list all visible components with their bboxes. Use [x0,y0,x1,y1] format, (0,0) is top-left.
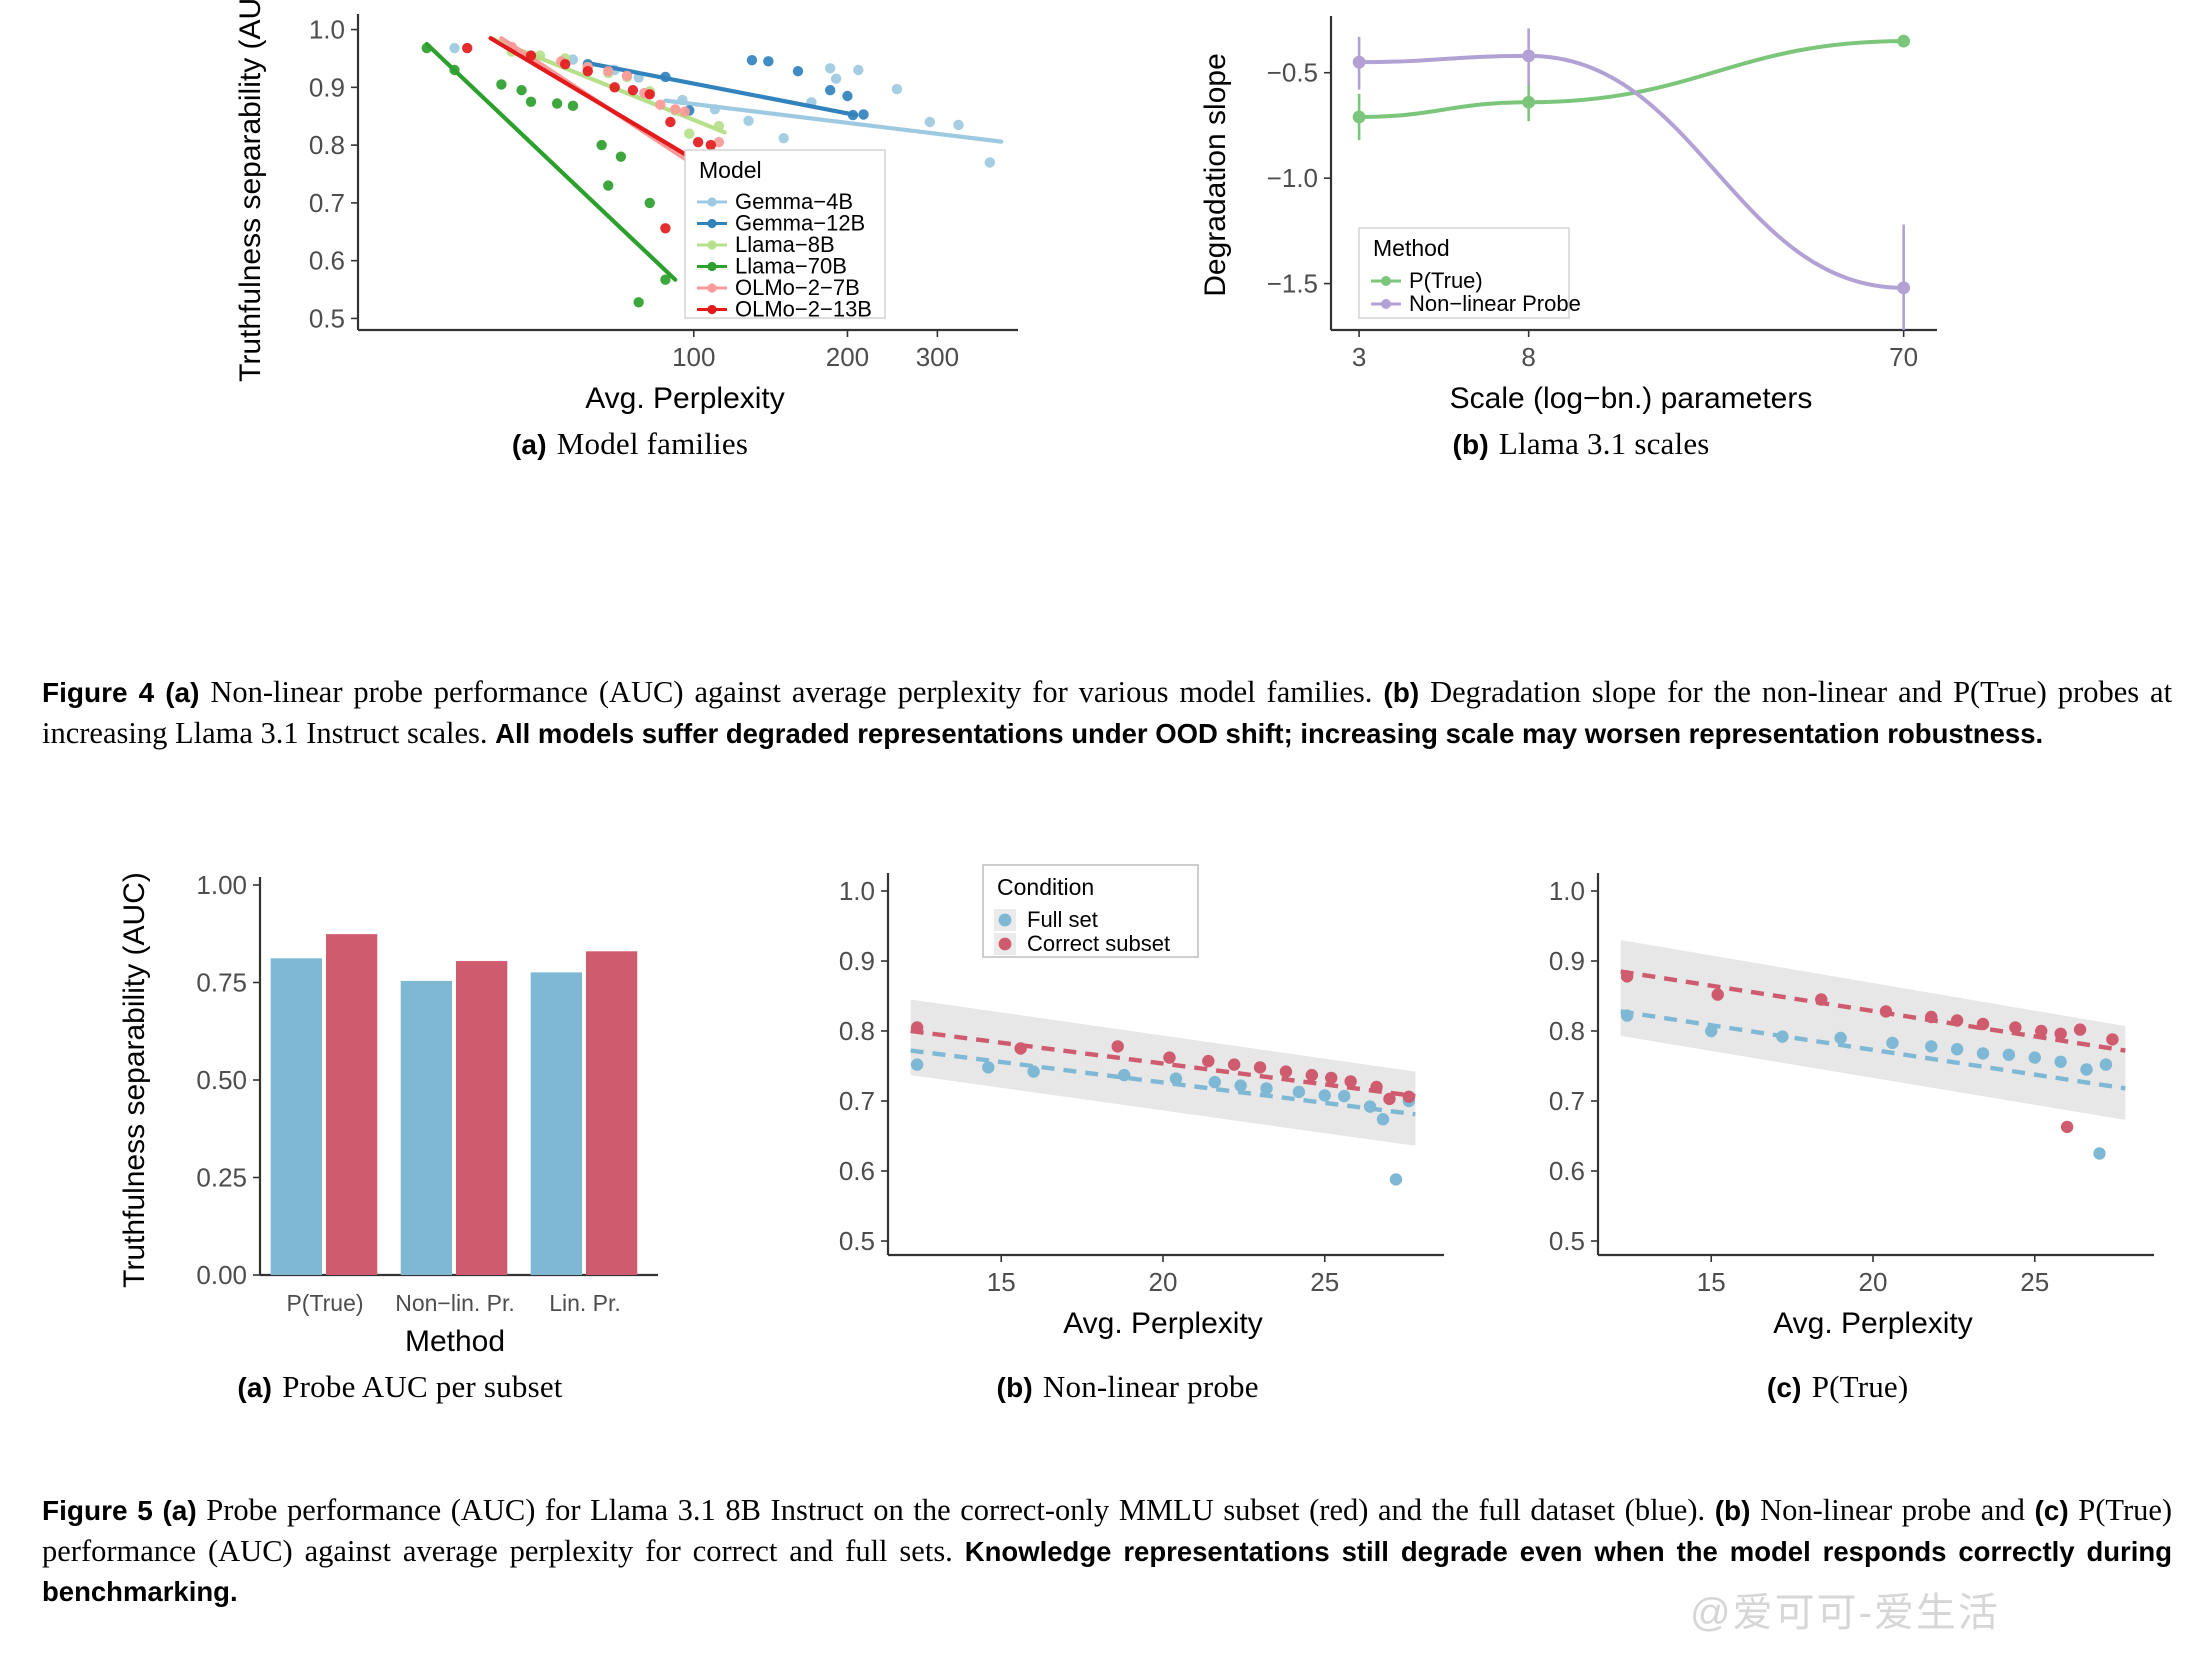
figure-4-caption-highlight: All models suffer degraded representatio… [495,718,2043,749]
confidence-ribbon [1620,940,2125,1120]
data-point [603,66,613,76]
series-OLMo−2−13B [462,38,716,233]
data-point [622,71,632,81]
data-point [1353,56,1366,69]
data-point [449,43,459,53]
data-point [2054,1028,2066,1040]
data-point [1383,1093,1395,1105]
x-tick-label: 70 [1889,342,1918,372]
data-point [911,1021,923,1033]
data-point [609,82,619,92]
figure-5a-chart: 0.000.250.500.751.00P(True)Non−lin. Pr.L… [110,855,690,1355]
data-point [1228,1058,1240,1070]
data-point [1976,1047,1988,1059]
figure-5a-subcaption-text: Probe AUC per subset [282,1369,562,1404]
data-point [1976,1018,1988,1030]
bar-Non−lin. Pr.-Full set [401,981,452,1275]
figure-5b-subcaption-text: Non-linear probe [1043,1369,1259,1404]
figure-4-caption-a-label: (a) [165,677,199,708]
data-point [831,73,841,83]
data-point [825,63,835,73]
data-point [1879,1005,1891,1017]
figure-4a-subcaption: (a)Model families [230,426,1030,462]
y-tick-label: 0.7 [838,1086,874,1116]
data-point [1711,988,1723,1000]
data-point [1208,1076,1220,1088]
data-point [2009,1021,2021,1033]
data-point [1202,1055,1214,1067]
y-tick-label: 0.5 [838,1226,874,1256]
data-point [693,137,703,147]
y-tick-label: 0.5 [1548,1226,1584,1256]
figure-5-caption-c-label: (c) [2034,1495,2068,1526]
figure-4a-chart: 0.50.60.70.80.91.0100200300Avg. Perplexi… [230,0,1030,420]
figure-4a-panel: 0.50.60.70.80.91.0100200300Avg. Perplexi… [0,0,1171,462]
data-point [516,85,526,95]
data-point [1522,96,1535,109]
figure-4-caption: Figure 4 (a) Non-linear probe performanc… [42,672,2172,753]
data-point [1621,1009,1633,1021]
data-point [1169,1072,1181,1084]
data-point [670,104,680,114]
y-tick-label: 0.25 [196,1163,247,1193]
x-tick-label: 25 [1310,1267,1339,1297]
figure-5-caption-a-text: Probe performance (AUC) for Llama 3.1 8B… [206,1493,1705,1527]
figure-page: 0.50.60.70.80.91.0100200300Avg. Perplexi… [0,0,2212,1666]
legend-title: Model [699,157,762,183]
data-point [793,66,803,76]
data-point [892,84,902,94]
figure-5b-subcaption-label: (b) [997,1372,1033,1403]
y-tick-label: 0.8 [309,130,345,160]
data-point [496,79,506,89]
figure-4b-panel: −0.5−1.0−1.53870Scale (log−bn.) paramete… [1171,0,2212,462]
legend-label: Full set [1027,907,1098,932]
data-point [1815,993,1827,1005]
x-tick-label: 20 [1858,1267,1887,1297]
figure-4a-subcaption-label: (a) [512,429,547,460]
data-point [1353,111,1366,124]
data-point [1118,1069,1130,1081]
data-point [2054,1056,2066,1068]
data-point [985,157,995,167]
figure-5a-subcaption-label: (a) [237,1372,272,1403]
data-point [1897,281,1910,294]
data-point [645,89,655,99]
data-point [1886,1037,1898,1049]
y-axis-title: Truthfulness separability (AUC) [234,0,267,382]
data-point [1705,1025,1717,1037]
bar-P(True)-Correct subset [326,934,377,1275]
figure-5a-subcaption: (a)Probe AUC per subset [110,1369,690,1405]
data-point [858,109,868,119]
legend-marker [707,262,716,271]
figure-4b-subcaption: (b)Llama 3.1 scales [1191,426,1971,462]
data-point [655,99,665,109]
data-point [2073,1023,2085,1035]
bar-P(True)-Full set [271,958,322,1275]
figure-5-caption-b-text: Non-linear probe and [1760,1493,2025,1527]
figure-4a-subcaption-text: Model families [557,426,748,461]
legend-marker [1381,299,1391,309]
figure-4-caption-label: Figure 4 [42,677,154,708]
data-point [2093,1147,2105,1159]
data-point [925,117,935,127]
y-tick-label: 0.5 [309,303,345,333]
data-point [1951,1043,1963,1055]
data-point [1925,1040,1937,1052]
figure-5c-subcaption-label: (c) [1767,1372,1802,1403]
data-point [660,223,670,233]
x-tick-label: 200 [826,342,869,372]
data-point [1363,1100,1375,1112]
x-tick-label: 15 [986,1267,1015,1297]
legend-label: P(True) [1409,268,1483,293]
x-tick-label: 8 [1521,342,1535,372]
x-axis-title: Avg. Perplexity [1773,1307,1973,1340]
y-tick-label: 1.0 [1548,876,1584,906]
legend-title: Condition [997,874,1094,900]
figure-5-caption-a-label: (a) [162,1495,196,1526]
figure-5b-chart: 0.50.60.70.80.91.0152025Avg. PerplexityC… [778,855,1478,1355]
figure-5b-panel: 0.50.60.70.80.91.0152025Avg. PerplexityC… [768,855,1478,1405]
y-tick-label: 1.00 [196,870,247,900]
data-point [747,55,757,65]
y-tick-label: 0.8 [838,1016,874,1046]
data-point [1344,1075,1356,1087]
data-point [1897,35,1910,48]
legend-marker [707,219,716,228]
data-point [1338,1090,1350,1102]
x-axis-title: Avg. Perplexity [585,382,785,415]
data-point [568,101,578,111]
data-point [2106,1033,2118,1045]
figure-5-caption-b-label: (b) [1715,1495,1751,1526]
y-tick-label: 1.0 [309,15,345,45]
data-point [825,85,835,95]
data-point [2028,1051,2040,1063]
figure-5c-subcaption-text: P(True) [1812,1369,1909,1404]
figure-5a-panel: 0.000.250.500.751.00P(True)Non−lin. Pr.L… [0,855,768,1405]
data-point [763,56,773,66]
data-point [1111,1040,1123,1052]
y-tick-label: 0.6 [838,1156,874,1186]
figure-5-caption-label: Figure 5 [42,1495,153,1526]
data-point [2099,1058,2111,1070]
y-tick-label: 1.0 [838,876,874,906]
data-point [1318,1089,1330,1101]
data-point [2035,1025,2047,1037]
data-point [680,106,690,116]
legend-label: OLMo−2−13B [735,297,872,322]
y-axis-title: Truthfulness separability (AUC) [118,872,151,1288]
data-point [462,43,472,53]
x-tick-label: 20 [1148,1267,1177,1297]
x-tick-label: 300 [916,342,959,372]
legend-marker [1381,276,1391,286]
legend-item-Full set[interactable]: Full set [994,907,1098,932]
data-point [1376,1113,1388,1125]
data-point [1014,1042,1026,1054]
watermark: @爱可可-爱生活 [1690,1580,2000,1638]
bar-Lin. Pr.-Full set [531,972,582,1275]
figure-4b-subcaption-label: (b) [1453,429,1489,460]
figure-4-caption-b-label: (b) [1383,677,1419,708]
data-point [853,65,863,75]
trend-line [1359,41,1904,117]
legend-marker [707,305,716,314]
figure-4b-subcaption-text: Llama 3.1 scales [1499,426,1710,461]
data-point [953,120,963,130]
data-point [982,1061,994,1073]
figure-4b-chart: −0.5−1.0−1.53870Scale (log−bn.) paramete… [1191,0,1971,420]
figure-4-caption-a-text: Non-linear probe performance (AUC) again… [210,675,1372,709]
y-axis-title: Degradation slope [1199,53,1232,297]
data-point [1370,1081,1382,1093]
y-tick-label: −1.5 [1267,269,1318,299]
legend-marker [998,938,1011,951]
data-point [616,151,626,161]
y-tick-label: 0.9 [838,946,874,976]
legend-marker [707,283,716,292]
data-point [2002,1049,2014,1061]
y-tick-label: 0.75 [196,968,247,998]
x-axis-title: Avg. Perplexity [1063,1307,1263,1340]
data-point [1253,1061,1265,1073]
data-point [1925,1011,1937,1023]
data-point [645,198,655,208]
x-tick-label: 3 [1352,342,1366,372]
figure-4-panels: 0.50.60.70.80.91.0100200300Avg. Perplexi… [0,0,2212,462]
y-tick-label: 0.6 [1548,1156,1584,1186]
data-point [1234,1079,1246,1091]
legend-marker [998,914,1011,927]
x-tick-label: 100 [672,342,715,372]
data-point [2080,1063,2092,1075]
x-tick-label: Lin. Pr. [549,1290,621,1316]
figure-5-panels: 0.000.250.500.751.00P(True)Non−lin. Pr.L… [0,855,2212,1405]
y-tick-label: 0.9 [309,72,345,102]
data-point [596,140,606,150]
data-point [1027,1065,1039,1077]
data-point [628,85,638,95]
y-tick-label: 0.50 [196,1065,247,1095]
y-tick-label: −1.0 [1267,163,1318,193]
data-point [1325,1072,1337,1084]
x-tick-label: 25 [2020,1267,2049,1297]
legend-title: Method [1373,235,1450,261]
data-point [583,66,593,76]
series-Llama−70B [422,43,676,308]
data-point [2061,1121,2073,1133]
data-point [706,140,716,150]
data-point [684,128,694,138]
legend-label: Correct subset [1027,931,1170,956]
data-point [778,133,788,143]
data-point [526,97,536,107]
figure-5b-subcaption: (b)Non-linear probe [778,1369,1478,1405]
data-point [633,297,643,307]
bar-Non−lin. Pr.-Correct subset [456,961,507,1275]
legend-marker [707,240,716,249]
data-point [911,1058,923,1070]
x-axis-title: Method [405,1325,505,1358]
data-point [665,117,675,127]
data-point [1621,970,1633,982]
y-tick-label: 0.8 [1548,1016,1584,1046]
data-point [1834,1032,1846,1044]
data-point [842,91,852,101]
data-point [1163,1051,1175,1063]
data-point [1951,1014,1963,1026]
legend-label: Non−linear Probe [1409,291,1581,316]
figure-5c-subcaption: (c)P(True) [1488,1369,2188,1405]
data-point [603,180,613,190]
y-tick-label: 0.9 [1548,946,1584,976]
data-point [743,116,753,126]
data-point [1260,1082,1272,1094]
x-tick-label: Non−lin. Pr. [395,1290,515,1316]
data-point [1305,1069,1317,1081]
data-point [1402,1091,1414,1103]
x-tick-label: 15 [1696,1267,1725,1297]
data-point [560,59,570,69]
y-tick-label: 0.7 [1548,1086,1584,1116]
data-point [1776,1030,1788,1042]
data-point [1522,49,1535,62]
x-axis-title: Scale (log−bn.) parameters [1450,382,1813,415]
figure-5c-panel: 0.50.60.70.80.91.0152025Avg. Perplexity … [1478,855,2212,1405]
y-tick-label: 0.6 [309,246,345,276]
fit-line [665,101,1001,142]
data-point [552,98,562,108]
x-tick-label: P(True) [286,1290,363,1316]
data-point [1279,1065,1291,1077]
y-tick-label: −0.5 [1267,58,1318,88]
y-tick-label: 0.00 [196,1260,247,1290]
bar-Lin. Pr.-Correct subset [586,951,637,1275]
data-point [1292,1086,1304,1098]
data-point [1389,1173,1401,1185]
legend-marker [707,197,716,206]
figure-5c-chart: 0.50.60.70.80.91.0152025Avg. Perplexity [1488,855,2188,1355]
y-tick-label: 0.7 [309,188,345,218]
